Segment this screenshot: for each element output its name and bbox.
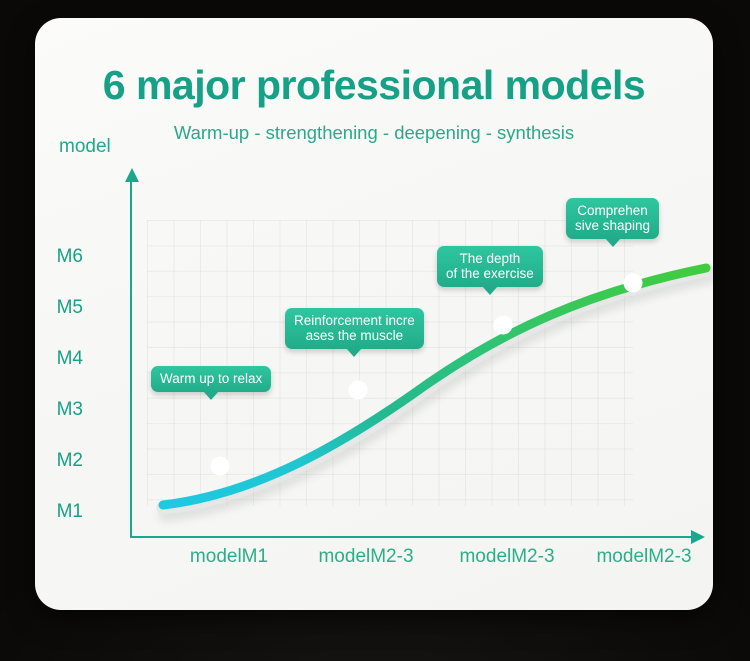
screenshot-root: 6 major professional models Warm-up - st…	[0, 0, 750, 661]
curve-marker-4	[624, 274, 643, 293]
callout-depth-line1: The depth	[460, 251, 521, 266]
callout-warm-up[interactable]: Warm up to relax	[151, 366, 271, 392]
y-tick-m4: M4	[57, 348, 83, 370]
callout-comprehensive-line1: Comprehen	[577, 203, 648, 218]
callout-reinforcement[interactable]: Reinforcement incre ases the muscle	[285, 308, 424, 349]
callout-warm-up-line1: Warm up to relax	[160, 371, 262, 386]
callout-reinforcement-line1: Reinforcement incre	[294, 313, 415, 328]
x-tick-1: modelM1	[190, 546, 268, 568]
y-tick-m3: M3	[57, 399, 83, 421]
callout-depth[interactable]: The depth of the exercise	[437, 246, 543, 287]
curve-marker-1	[211, 457, 230, 476]
page-title: 6 major professional models	[35, 62, 713, 109]
chart-plot-area: M6 M5 M4 M3 M2 M1 modelM1 modelM2-3 mode…	[95, 168, 695, 548]
callout-depth-line2: of the exercise	[446, 266, 534, 281]
y-tick-m5: M5	[57, 297, 83, 319]
page-subtitle: Warm-up - strengthening - deepening - sy…	[35, 122, 713, 144]
callout-reinforcement-line2: ases the muscle	[294, 328, 415, 343]
callout-comprehensive[interactable]: Comprehen sive shaping	[566, 198, 659, 239]
curve-marker-3	[494, 316, 513, 335]
y-axis-title: model	[59, 136, 111, 158]
x-tick-3: modelM2-3	[459, 546, 554, 568]
y-tick-m1: M1	[57, 501, 83, 523]
curve-marker-2	[349, 381, 368, 400]
x-tick-4: modelM2-3	[596, 546, 691, 568]
chart-card: 6 major professional models Warm-up - st…	[35, 18, 713, 610]
callout-comprehensive-line2: sive shaping	[575, 218, 650, 233]
x-tick-2: modelM2-3	[318, 546, 413, 568]
y-tick-m2: M2	[57, 450, 83, 472]
y-tick-m6: M6	[57, 246, 83, 268]
